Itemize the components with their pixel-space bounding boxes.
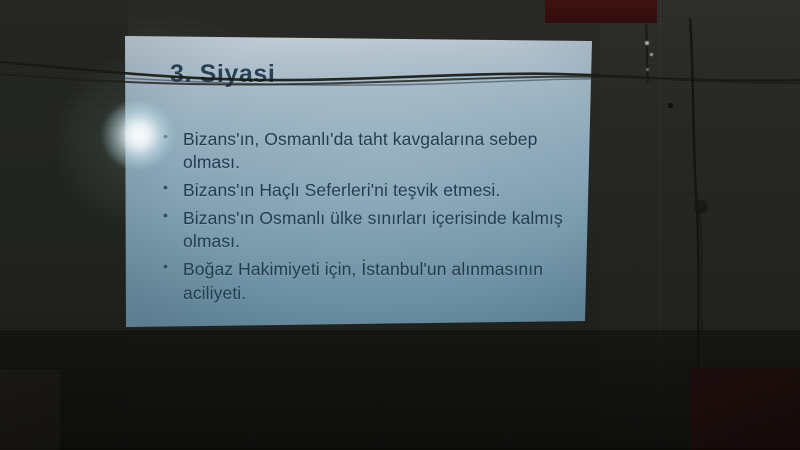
cable-knob <box>694 200 708 213</box>
projected-slide: 3. Siyasi Bizans'ın, Osmanlı'da taht kav… <box>125 36 593 328</box>
wall-fixture-dot <box>668 103 673 108</box>
slide-title: 3. Siyasi <box>170 60 275 89</box>
maroon-floor-patch-left <box>0 370 60 450</box>
maroon-ceiling-patch <box>545 0 657 23</box>
presentation-room-photo: 3. Siyasi Bizans'ın, Osmanlı'da taht kav… <box>0 0 800 450</box>
list-item: Boğaz Hakimiyeti için, İstanbul'un alınm… <box>157 258 572 304</box>
cable-highlight-sparkle <box>650 53 653 56</box>
list-item: Bizans'ın Osmanlı ülke sınırları içerisi… <box>157 207 572 253</box>
cable-highlight-sparkle <box>645 41 649 45</box>
slide-bullet-list: Bizans'ın, Osmanlı'da taht kavgalarına s… <box>157 128 572 310</box>
wall-lower-shadow-band <box>0 330 800 450</box>
maroon-floor-patch <box>690 368 800 450</box>
list-item: Bizans'ın, Osmanlı'da taht kavgalarına s… <box>157 128 572 174</box>
list-item: Bizans'ın Haçlı Seferleri'ni teşvik etme… <box>157 179 572 202</box>
cable-highlight-sparkle <box>646 68 649 71</box>
projector-lens-glare <box>103 101 175 169</box>
